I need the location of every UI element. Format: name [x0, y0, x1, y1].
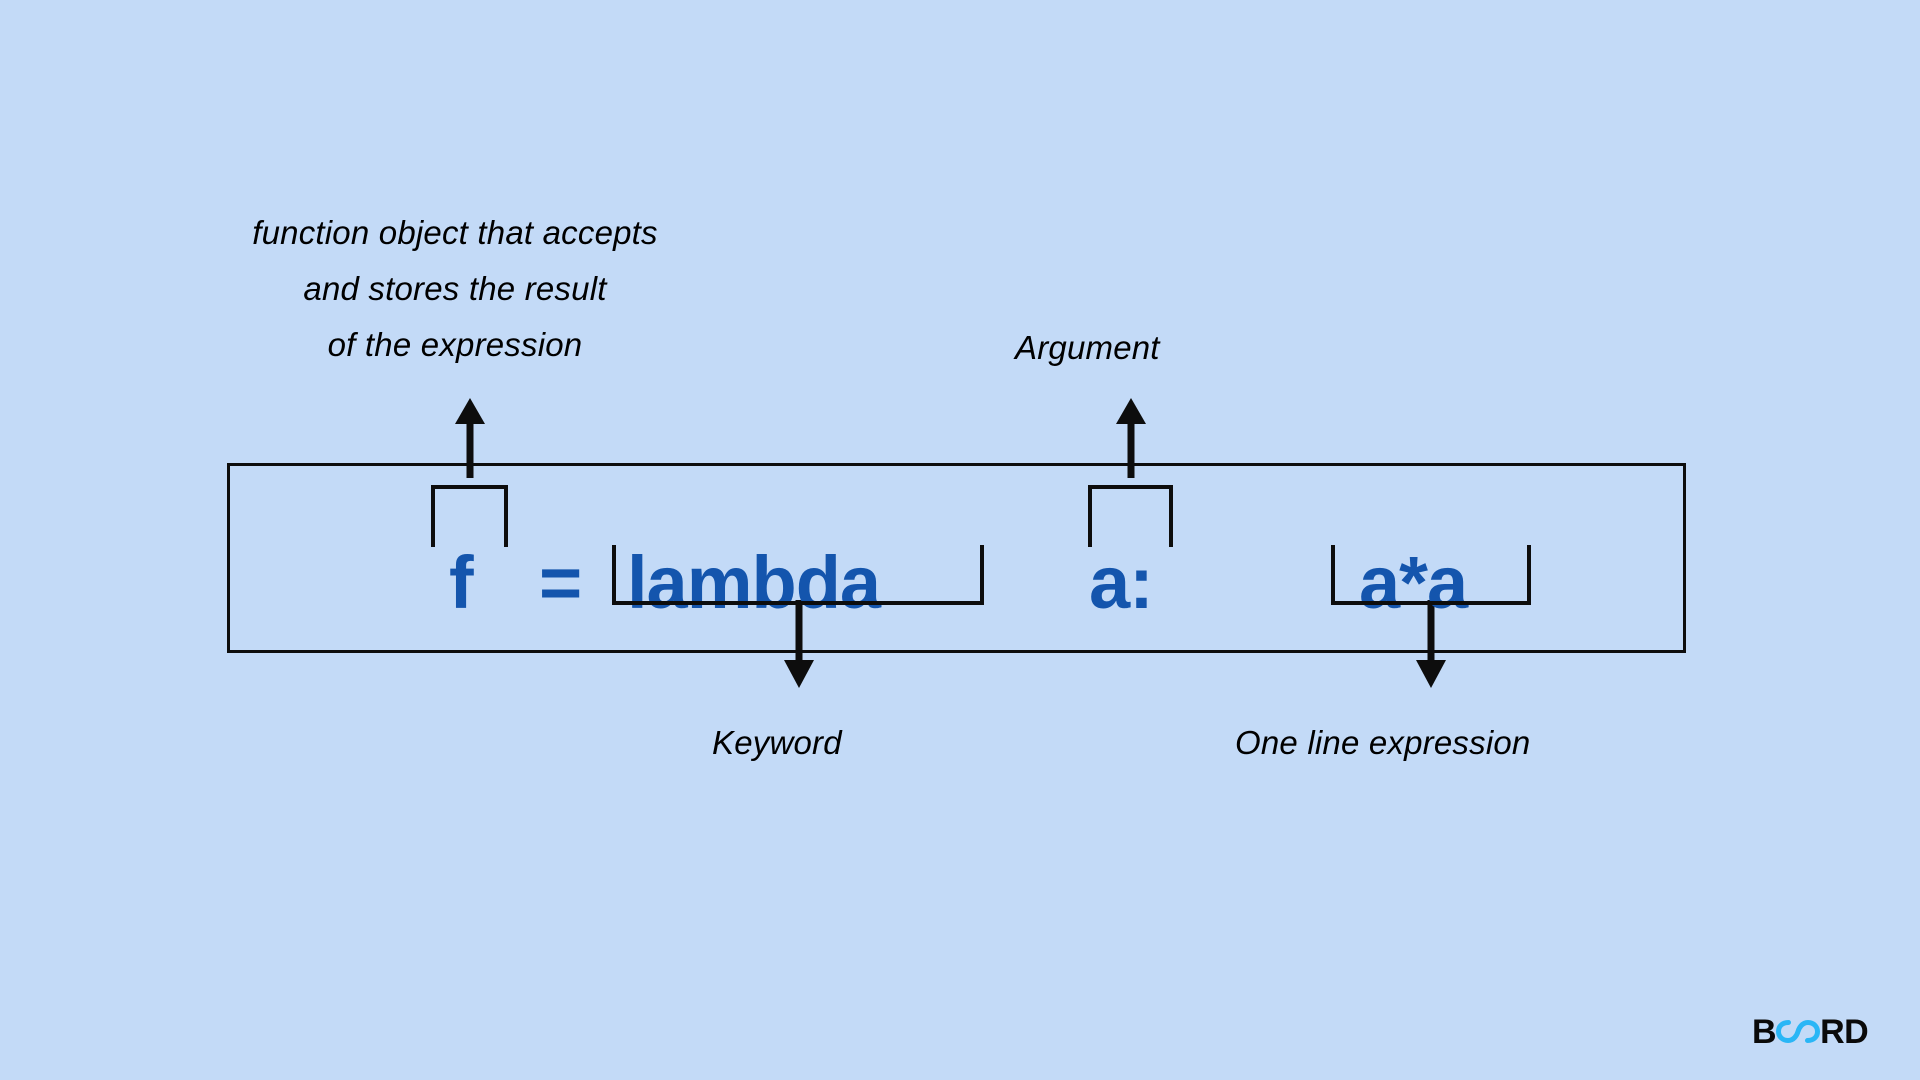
diagram-canvas: function object that acceptsand stores t… — [0, 0, 1920, 1080]
annotation-one-line-expression: One line expression — [1235, 715, 1530, 771]
code-token-assign: = — [539, 546, 581, 620]
board-logo: B RD — [1752, 1012, 1868, 1052]
logo-prefix: B — [1752, 1015, 1776, 1049]
bracket-keyword — [612, 545, 984, 605]
bracket-target — [431, 485, 508, 547]
bracket-argument — [1088, 485, 1173, 547]
code-token-target: f — [449, 546, 473, 620]
bracket-expression — [1331, 545, 1531, 605]
annotation-argument: Argument — [1015, 320, 1160, 376]
annotation-keyword: Keyword — [712, 715, 842, 771]
code-token-argument: a: — [1089, 546, 1153, 620]
logo-suffix: RD — [1820, 1015, 1868, 1049]
annotation-function-object: function object that acceptsand stores t… — [150, 205, 760, 373]
infinity-icon — [1776, 1013, 1820, 1052]
